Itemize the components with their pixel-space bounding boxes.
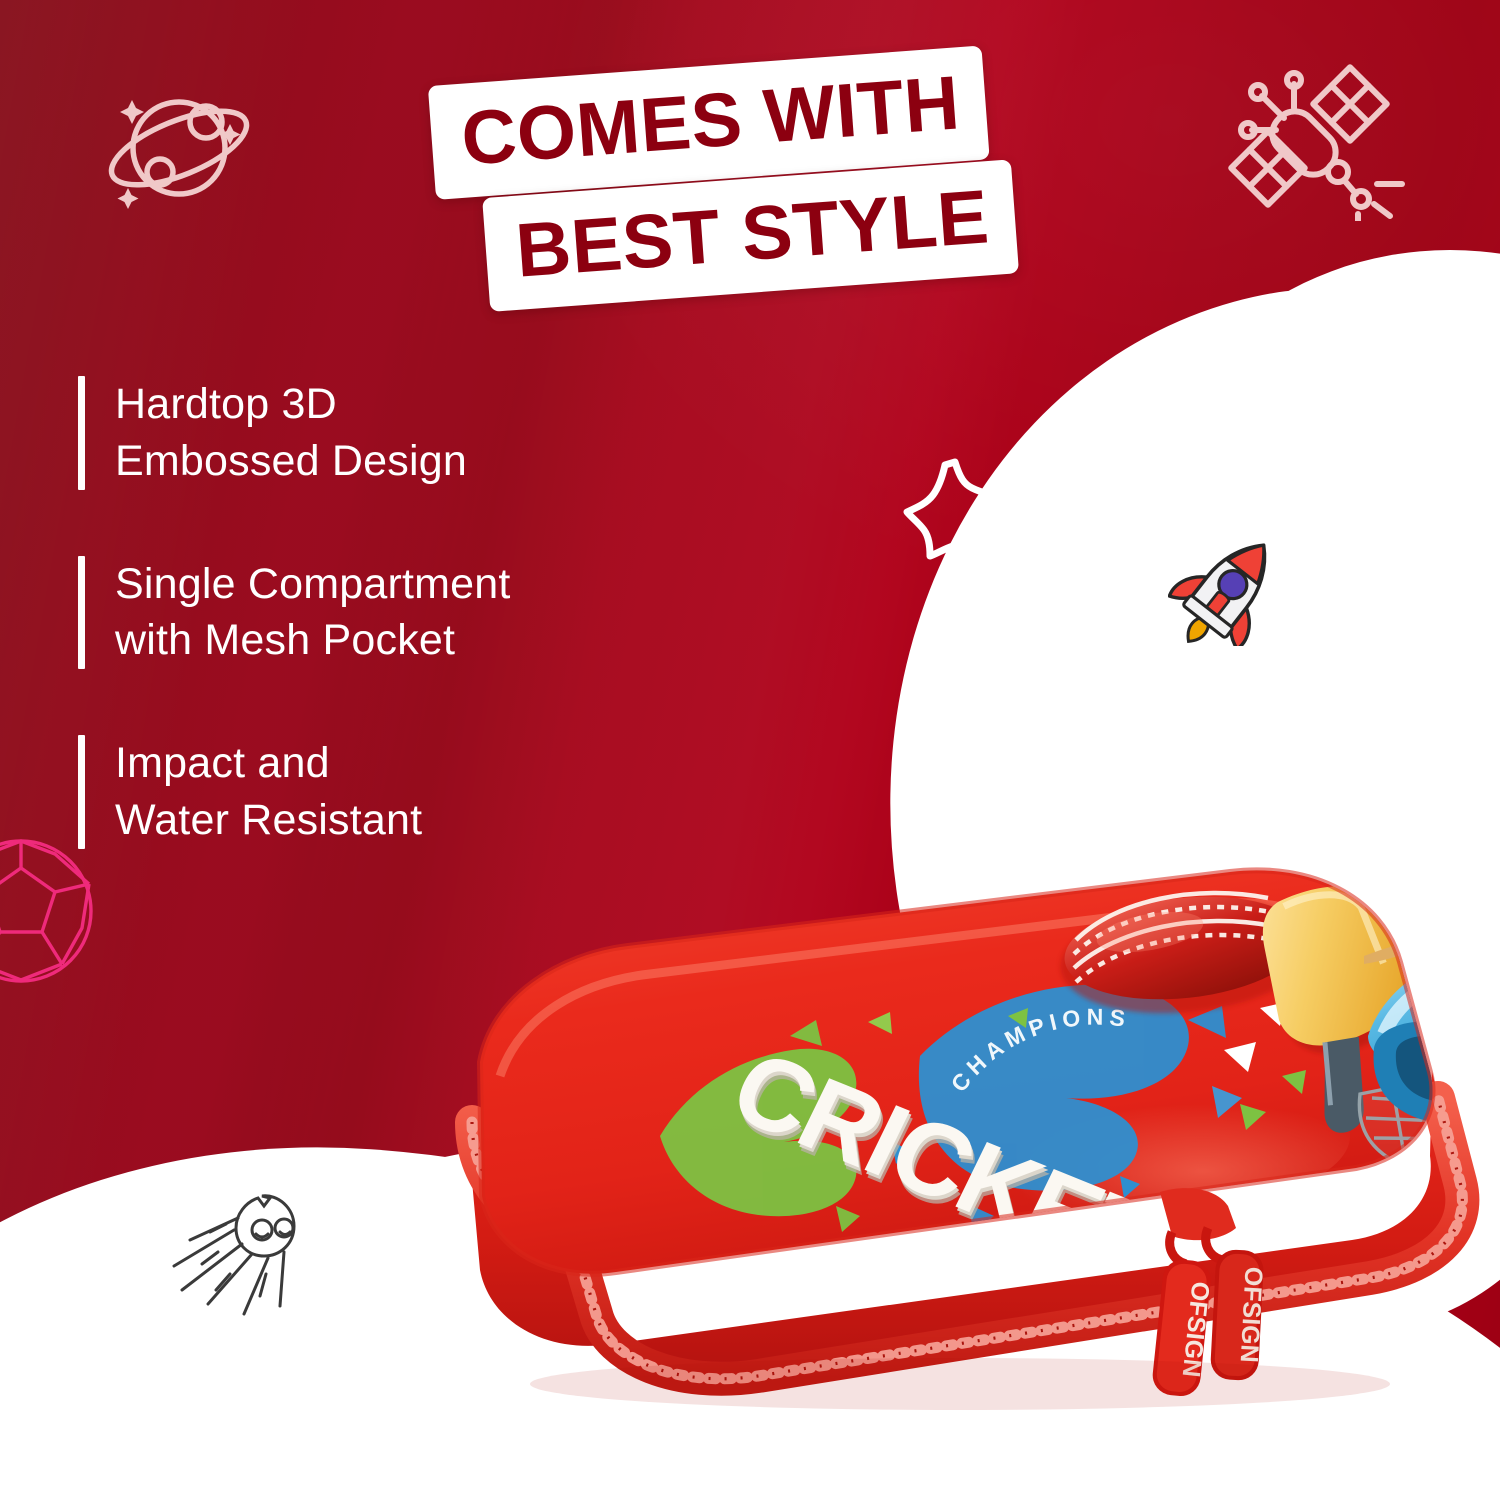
satellite-icon <box>1222 56 1412 221</box>
feature-text: Single Compartment with Mesh Pocket <box>115 556 511 670</box>
feature-line-1: Impact and <box>115 735 422 792</box>
brand-tag-text-2: OFSIGN <box>1235 1266 1268 1363</box>
product-shadow <box>530 1358 1390 1410</box>
feature-text: Hardtop 3D Embossed Design <box>115 376 467 490</box>
feature-line-2: with Mesh Pocket <box>115 612 511 669</box>
feature-accent-bar <box>78 735 85 849</box>
feature-item: Single Compartment with Mesh Pocket <box>78 556 698 670</box>
headline-group: COMES WITH BEST STYLE <box>432 86 1072 310</box>
star-icon <box>898 452 1008 562</box>
feature-item: Hardtop 3D Embossed Design <box>78 376 698 490</box>
feature-line-1: Single Compartment <box>115 556 511 613</box>
comet-icon <box>160 1178 340 1318</box>
feature-item: Impact and Water Resistant <box>78 735 698 849</box>
product-image-cricket-pencil-case: CHAMPIONS CRICKET CRICKET CRICKET <box>360 836 1480 1416</box>
feature-line-2: Embossed Design <box>115 433 467 490</box>
zipper-tag-2[interactable]: OFSIGN <box>1210 1249 1269 1382</box>
feature-line-1: Hardtop 3D <box>115 376 467 433</box>
feature-accent-bar <box>78 376 85 490</box>
feature-accent-bar <box>78 556 85 670</box>
feature-list: Hardtop 3D Embossed Design Single Compar… <box>78 376 698 915</box>
feature-text: Impact and Water Resistant <box>115 735 422 849</box>
rocket-icon <box>1168 528 1294 646</box>
poster-canvas: COMES WITH BEST STYLE Hardtop 3D Embosse… <box>0 0 1500 1500</box>
planet-icon <box>84 72 274 222</box>
